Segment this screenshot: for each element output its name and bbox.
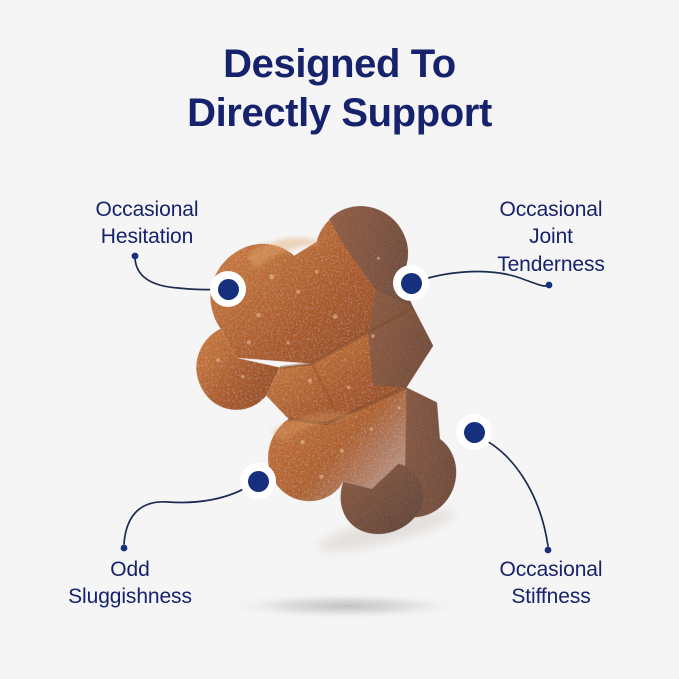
marker-dot [248, 471, 269, 492]
callout-label-odd-sluggishness-line-1: Odd [18, 556, 242, 583]
callout-marker-joint-tenderness[interactable] [393, 265, 429, 301]
callout-label-hesitation: Occasional Hesitation [35, 196, 259, 251]
callout-label-stiffness-line-2: Stiffness [440, 583, 662, 610]
callout-label-joint-tenderness: Occasional Joint Tenderness [440, 196, 662, 278]
callout-label-odd-sluggishness: Odd Sluggishness [18, 556, 242, 611]
callout-marker-odd-sluggishness[interactable] [240, 463, 276, 499]
callout-label-joint-tenderness-line-3: Tenderness [440, 251, 662, 278]
callout-label-odd-sluggishness-line-2: Sluggishness [18, 583, 242, 610]
marker-dot [464, 422, 485, 443]
marker-dot [401, 273, 422, 294]
callout-label-stiffness: Occasional Stiffness [440, 556, 662, 611]
infographic-canvas: Designed To Directly Support [0, 0, 679, 679]
callout-label-joint-tenderness-line-1: Occasional [440, 196, 662, 223]
product-shadow [215, 592, 475, 620]
callout-label-joint-tenderness-line-2: Joint [440, 223, 662, 250]
leader-endpoint-joint-tenderness [546, 282, 553, 289]
callout-label-hesitation-line-1: Occasional [35, 196, 259, 223]
callout-label-stiffness-line-1: Occasional [440, 556, 662, 583]
leader-line-odd-sluggishness [124, 484, 252, 544]
callout-label-hesitation-line-2: Hesitation [35, 223, 259, 250]
leader-line-hesitation [135, 258, 222, 290]
callout-marker-stiffness[interactable] [456, 414, 492, 450]
leader-line-stiffness [479, 437, 548, 546]
leader-endpoint-stiffness [545, 547, 552, 554]
chew-treat-body [167, 196, 477, 578]
marker-dot [218, 279, 239, 300]
leader-endpoint-hesitation [132, 253, 139, 260]
callout-marker-hesitation[interactable] [210, 271, 246, 307]
leader-endpoint-odd-sluggishness [121, 545, 128, 552]
